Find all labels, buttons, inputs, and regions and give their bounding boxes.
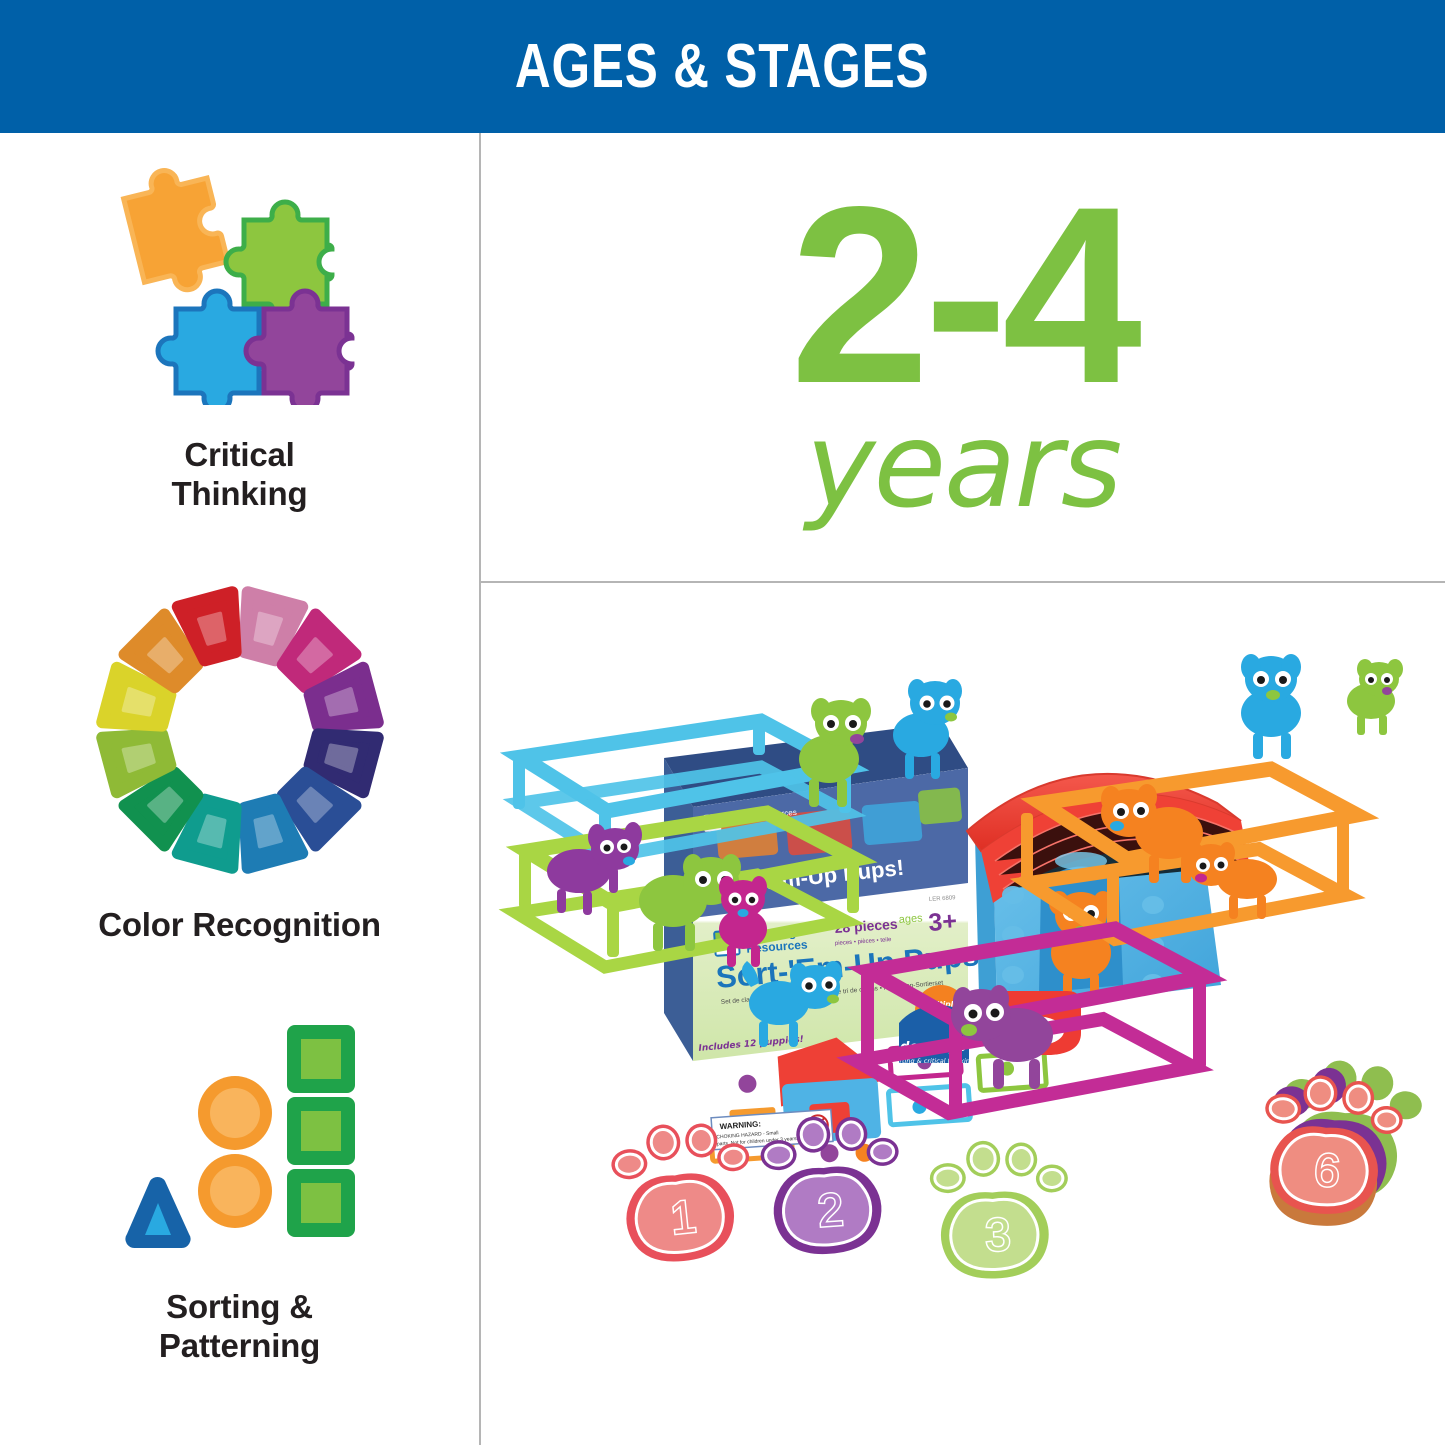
- box-ages-value: 3+: [927, 907, 957, 937]
- skill-label: Color Recognition: [98, 906, 381, 945]
- skill-label-line2: Patterning: [159, 1327, 320, 1366]
- paw-card-number: 6: [1313, 1143, 1342, 1197]
- header-banner: AGES & STAGES: [0, 0, 1445, 133]
- age-range-panel: 2-4 years: [481, 133, 1445, 581]
- skill-label-line1: Sorting &: [159, 1288, 320, 1327]
- skill-critical-thinking: Critical Thinking: [0, 165, 479, 513]
- skill-label: Sorting & Patterning: [159, 1288, 320, 1365]
- paw-card-number: 3: [984, 1208, 1011, 1261]
- paw-card-number: 2: [816, 1183, 845, 1237]
- blue-puppy-right: [1241, 654, 1301, 759]
- skill-label-line1: Color Recognition: [98, 906, 381, 945]
- paw-card-3: 3: [929, 1138, 1072, 1281]
- color-wheel-icon: [95, 585, 385, 880]
- ages-and-stages-infographic: AGES & STAGES: [0, 0, 1445, 1445]
- paw-card-number: 1: [668, 1190, 699, 1244]
- skill-label-line1: Critical: [172, 436, 308, 475]
- puzzle-pieces-icon: [114, 165, 366, 410]
- page-title: AGES & STAGES: [515, 31, 930, 102]
- product-photo: Learning Resources Sort-'Em-Up Pups! Lea…: [481, 583, 1445, 1445]
- skill-label: Critical Thinking: [172, 436, 308, 513]
- skill-label-line2: Thinking: [172, 475, 308, 514]
- green-puppy-small-right: [1347, 659, 1403, 735]
- paw-card-stack: 6: [1257, 1056, 1424, 1232]
- shape-sorting-icon: [117, 1013, 363, 1262]
- box-ages-label: ages: [898, 912, 923, 926]
- skill-sorting-patterning: Sorting & Patterning: [0, 1013, 479, 1365]
- age-range-value: 2-4: [790, 180, 1136, 412]
- age-range-unit: years: [806, 406, 1121, 524]
- skills-column: Critical Thinking Color Recognition: [0, 133, 479, 1445]
- skill-color-recognition: Color Recognition: [0, 585, 479, 945]
